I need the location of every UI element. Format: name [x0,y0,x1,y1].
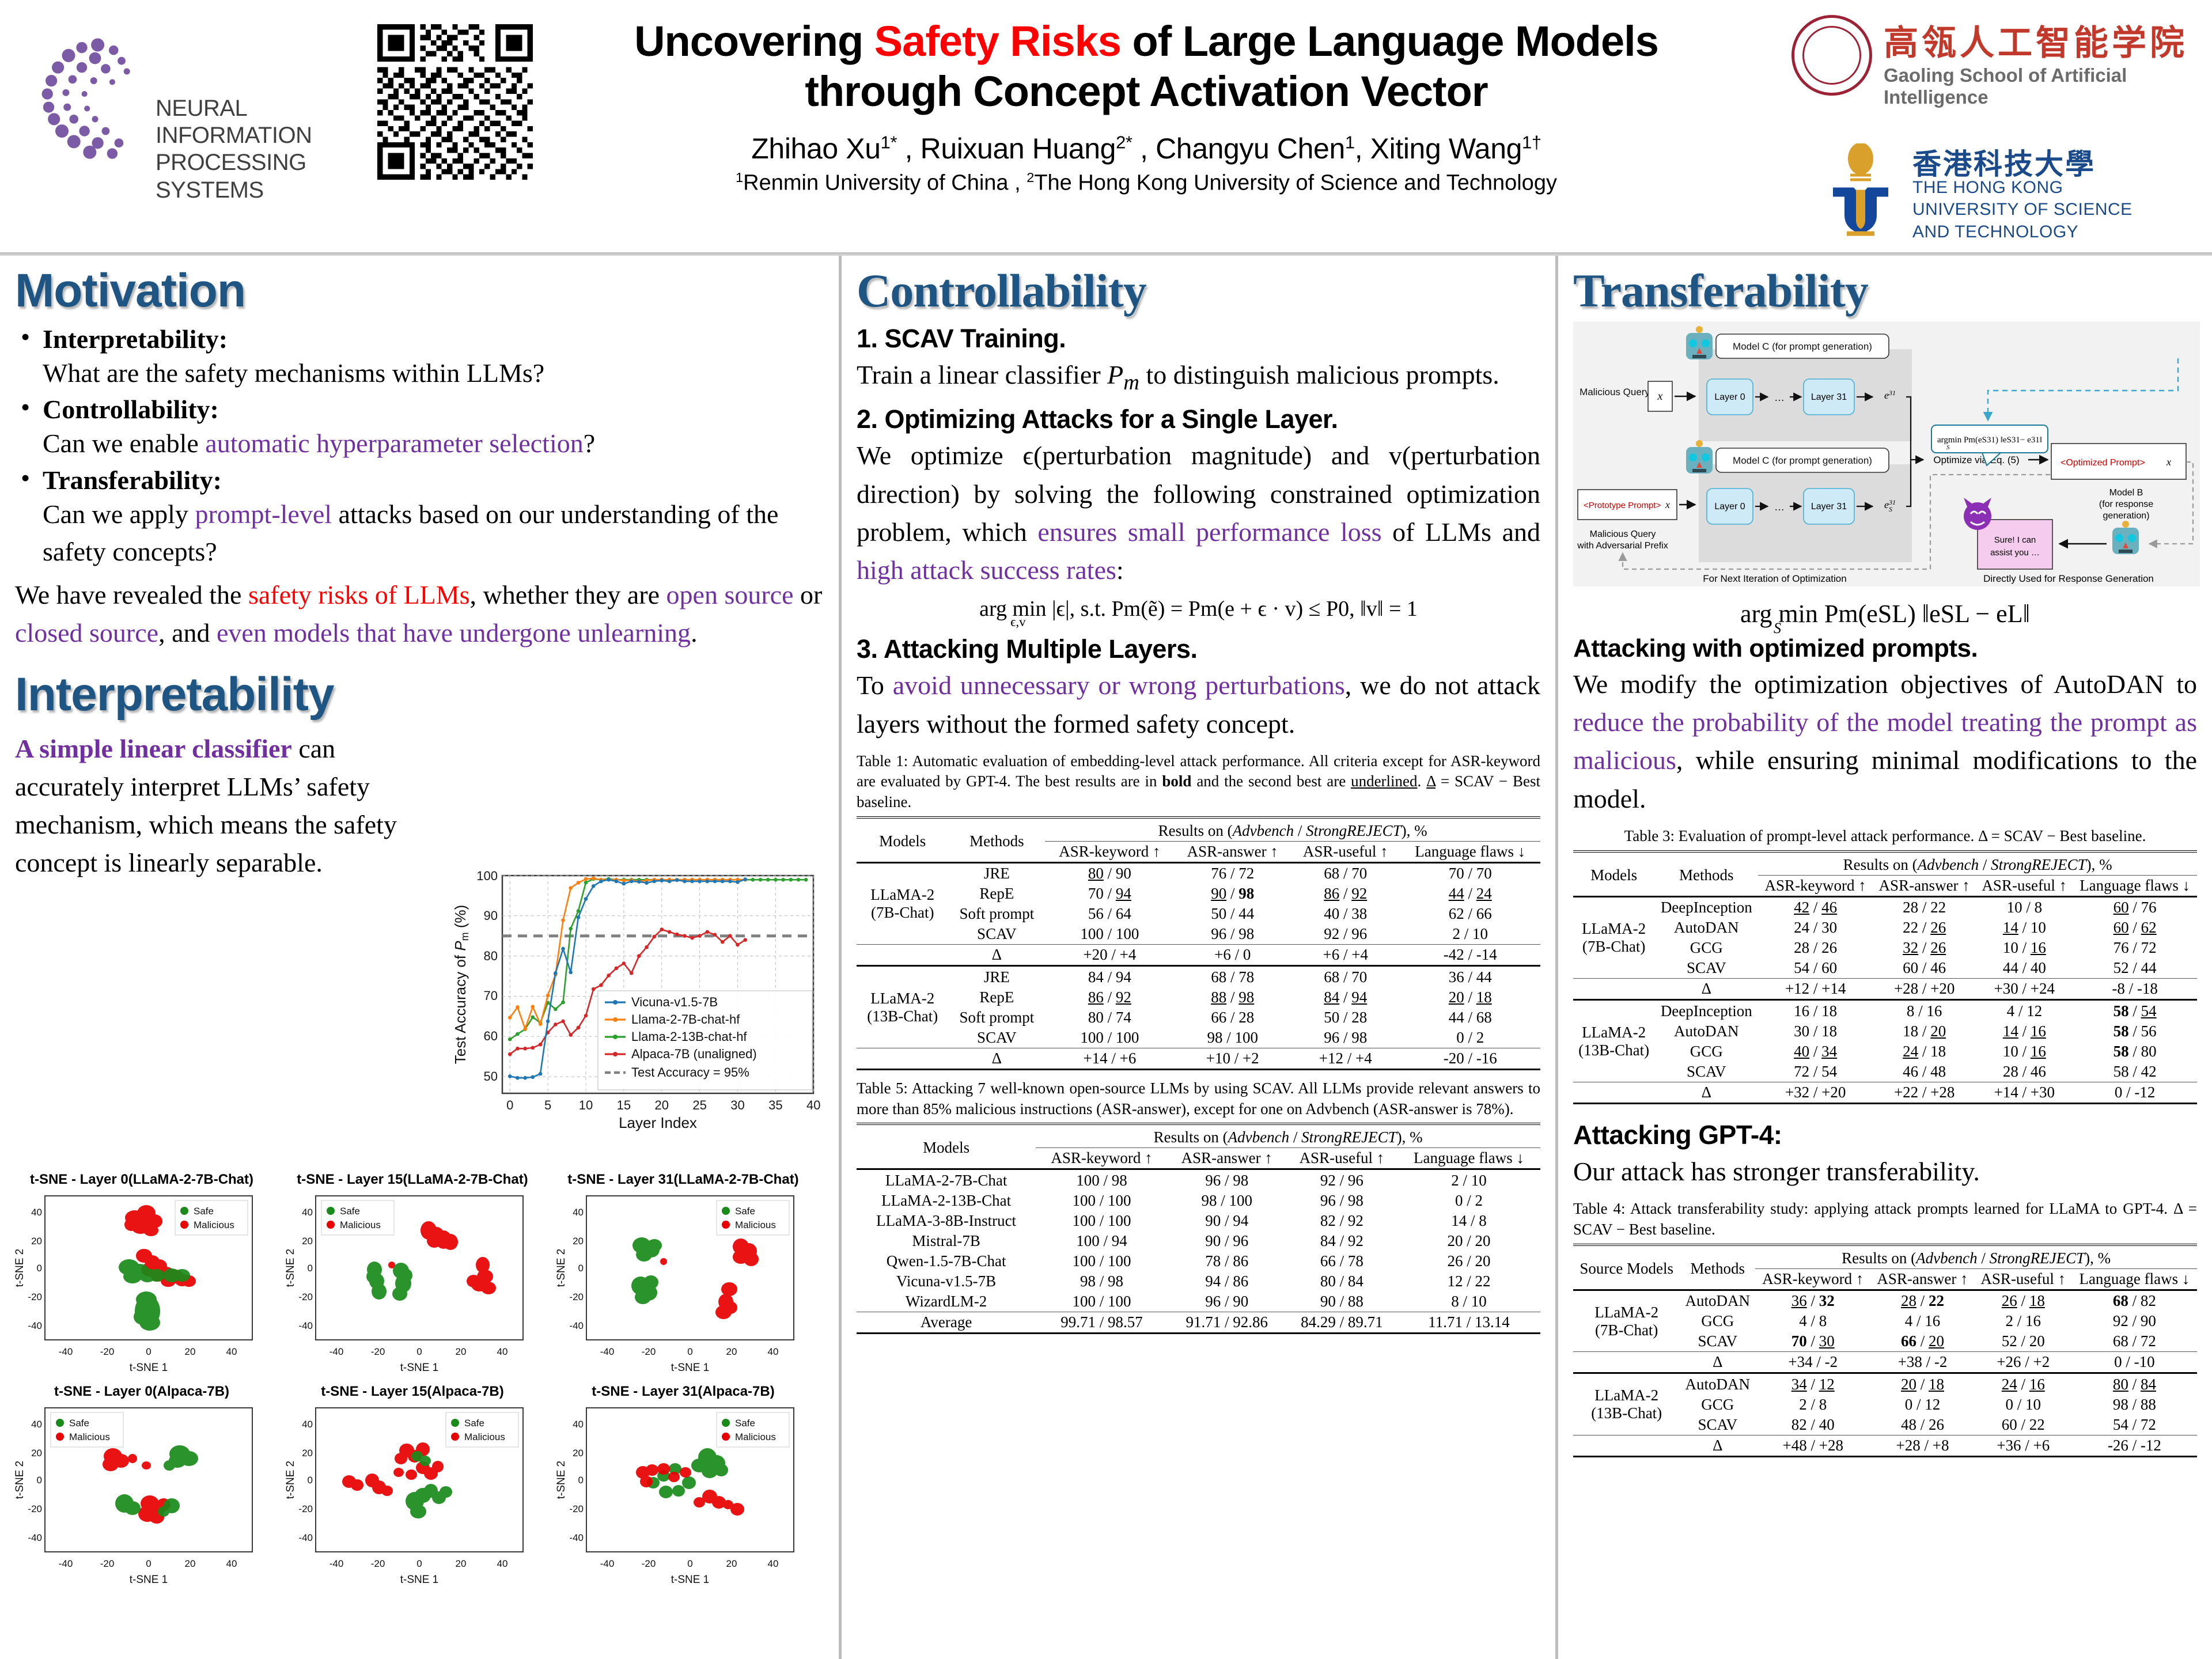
svg-text:25: 25 [692,1098,706,1112]
table4-group-header: Results on (Advbench / StrongREJECT), % [1755,1248,2197,1269]
t5-r5-0: 98 / 98 [1036,1271,1168,1291]
svg-text:0: 0 [416,1558,422,1569]
step-2-body-b: of LLMs and [1382,517,1540,547]
step-1-body-b: to distinguish malicious prompts. [1139,360,1499,389]
svg-text:Llama-2-13B-chat-hf: Llama-2-13B-chat-hf [631,1029,747,1044]
svg-text:Safe: Safe [735,1206,755,1217]
t5-r2-3: 14 / 8 [1397,1211,1540,1231]
step-3-body: To avoid unnecessary or wrong perturbati… [857,666,1540,743]
svg-text:0: 0 [308,1475,313,1486]
svg-text:0: 0 [687,1346,692,1357]
svg-text:-20: -20 [569,1503,584,1514]
chart-xlabel: Layer Index [619,1114,697,1131]
svg-text:40: 40 [226,1346,237,1357]
svg-text:0: 0 [687,1558,692,1569]
table-row: LLaMA-2(7B-Chat)AutoDAN36 / 3228 / 2226 … [1573,1291,2197,1311]
t5-r5-3: 12 / 22 [1397,1271,1540,1291]
table-row: LLaMA-2-7B-Chat100 / 9896 / 9892 / 962 /… [857,1171,1540,1191]
table-row: SCAV54 / 6060 / 4644 / 4052 / 44 [1573,958,2197,979]
summary-open-source: open source [666,580,794,609]
svg-text:20: 20 [185,1346,196,1357]
tsne-plot-2: 40200-20-40 -40-2002040 t-SNE 1 t-SNE 2 [551,1189,816,1379]
tsne-title-4: t-SNE - Layer 15(Alpaca-7B) [280,1384,545,1400]
summary-part-4: , and [158,618,217,647]
svg-text:40: 40 [302,1207,313,1218]
t5-r3-3: 20 / 20 [1397,1231,1540,1251]
title-block: Uncovering Safety Risks of Large Languag… [547,16,1745,195]
table-row: LLaMA-2(13B-Chat)DeepInception16 / 188 /… [1573,1001,2197,1021]
table1-sub-3: Language flaws ↓ [1400,841,1540,862]
t3-d1-1: +22 / +28 [1873,1082,1976,1103]
svg-text:40: 40 [768,1558,779,1569]
table-row: Vicuna-v1.5-7B98 / 9894 / 8680 / 8412 / … [857,1271,1540,1291]
t5-r1-2: 96 / 98 [1286,1191,1397,1211]
t1-d1-1: +10 / +2 [1175,1048,1291,1069]
svg-text:40: 40 [497,1346,508,1357]
table1-sub-1: ASR-answer ↑ [1175,841,1291,862]
t3-d0-0: +12 / +14 [1758,979,1873,1000]
malicious-query-label: Malicious Query [1580,387,1650,397]
t4-d1-3: -26 / -12 [2072,1435,2197,1456]
attacking-gpt4-heading: Attacking GPT-4: [1573,1119,2197,1150]
svg-text:-40: -40 [298,1320,313,1331]
t3-d0-1: +28 / +20 [1873,979,1976,1000]
step-3-hl: avoid unnecessary or wrong perturbations [893,671,1345,700]
column-left: Motivation Interpretability: What are th… [0,256,839,1659]
svg-text:40: 40 [31,1207,42,1218]
t5-r3-0: 100 / 94 [1036,1231,1168,1251]
svg-text:-20: -20 [371,1346,385,1357]
neurips-line-1: NEURAL INFORMATION [156,95,363,149]
table-row: RepE86 / 9288 / 9884 / 9420 / 18 [857,987,1540,1007]
neurips-wordmark: NEURAL INFORMATION PROCESSING SYSTEMS [156,95,363,204]
tsne-title-0: t-SNE - Layer 0(LLaMA-2-7B-Chat) [9,1172,274,1188]
step-1-body-a: Train a linear classifier [857,360,1107,389]
t1-d1-0: +14 / +6 [1045,1048,1174,1069]
tsne-legend-0: Safe Malicious [175,1200,248,1235]
table-prompt-level-attack: Models Methods Results on (Advbench / St… [1573,850,2197,1105]
motivation-head-1: Controllability: [43,394,824,425]
step-2-body: We optimize ϵ(perturbation magnitude) an… [857,437,1540,589]
model-c-label-bottom: Model C (for prompt generation) [1733,455,1872,466]
t3-d0-2: +30 / +24 [1976,979,2073,1000]
query-x-label: x [1657,390,1663,403]
motivation-head-0: Interpretability: [43,324,824,354]
t3-d0-3: -8 / -18 [2073,979,2197,1000]
t5-r1-m: LLaMA-2-13B-Chat [857,1191,1036,1211]
t5-r1-3: 0 / 2 [1397,1191,1540,1211]
svg-text:5: 5 [544,1098,551,1112]
table1-sub-0: ASR-keyword ↑ [1045,841,1174,862]
svg-text:t-SNE 1: t-SNE 1 [671,1362,710,1374]
svg-text:Safe: Safe [340,1206,360,1217]
t5-r6-3: 8 / 10 [1397,1291,1540,1312]
t5-r0-m: LLaMA-2-7B-Chat [857,1171,1036,1191]
svg-text:t-SNE 1: t-SNE 1 [400,1362,439,1374]
motivation-sub-1-post: ? [584,429,595,458]
table4-caption: Table 4: Attack transferability study: a… [1573,1199,2197,1240]
step-3-body-a: To [857,671,893,700]
table1-col-methods: Methods [948,821,1045,863]
svg-text:t-SNE 1: t-SNE 1 [671,1574,710,1586]
svg-text:60: 60 [484,1029,498,1043]
t5-r0-1: 96 / 98 [1168,1171,1286,1191]
architecture-svg: Model C (for prompt generation) Model C … [1573,321,2200,586]
column-right: Transferability Model C [1555,256,2212,1659]
motivation-summary: We have revealed the safety risks of LLM… [15,576,824,652]
poster-root: NEURAL INFORMATION PROCESSING SYSTEMS [0,0,2212,1659]
table-open-source-llms: Models Results on (Advbench / StrongREJE… [857,1123,1540,1334]
poster-header: NEURAL INFORMATION PROCESSING SYSTEMS [0,0,2212,253]
table3-sub-0: ASR-keyword ↑ [1758,875,1873,896]
table5-sub-0: ASR-keyword ↑ [1036,1148,1168,1169]
t5-r4-m: Qwen-1.5-7B-Chat [857,1251,1036,1271]
svg-text:-20: -20 [28,1291,42,1302]
svg-text:Malicious: Malicious [735,1219,776,1230]
ruc-logo-chinese: 高瓴人工智能学院 [1884,15,2188,65]
t5-r5-1: 94 / 86 [1168,1271,1286,1291]
ruc-seal-icon [1791,15,1872,96]
t5-r1-1: 98 / 100 [1168,1191,1286,1211]
step-1-body: Train a linear classifier Pm to distingu… [857,356,1540,399]
ruc-logo-english: Gaoling School of Artificial Intelligenc… [1884,65,2195,108]
table-row: Δ+12 / +14+28 / +20+30 / +24-8 / -18 [1573,979,2197,1000]
svg-text:0: 0 [37,1263,42,1274]
transferability-equation-text: arg min Pm(eSL) ‖eSL − eL‖ [1740,600,2030,628]
interpretability-text: A simple linear classifier can accuratel… [15,730,418,882]
list-item: Interpretability: What are the safety me… [15,324,824,392]
tsne-panel-5: t-SNE - Layer 31(Alpaca-7B) 40200-20-40 … [551,1384,816,1591]
summary-part-3: or [794,580,823,609]
svg-text:-40: -40 [329,1558,344,1569]
step-2-hl-1: ensures small performance loss [1037,517,1381,547]
svg-text:Alpaca-7B (unaligned): Alpaca-7B (unaligned) [631,1047,757,1061]
layer0-bottom-label: Layer 0 [1714,502,1745,512]
svg-text:40: 40 [226,1558,237,1569]
svg-text:15: 15 [617,1098,631,1112]
summary-part-5: . [691,618,698,647]
table-row: Δ+48 / +28+28 / +8+36 / +6-26 / -12 [1573,1435,2197,1456]
t5-r5-2: 80 / 84 [1286,1271,1397,1291]
svg-text:-40: -40 [600,1558,615,1569]
transferability-architecture-diagram: Model C (for prompt generation) Model C … [1573,321,2200,586]
tsne-title-5: t-SNE - Layer 31(Alpaca-7B) [551,1384,816,1400]
svg-text:-40: -40 [59,1346,73,1357]
hkust-logo: 香港科技大學 THE HONG KONG UNIVERSITY OF SCIEN… [1826,141,2195,245]
tsne-row-llama: t-SNE - Layer 0(LLaMA-2-7B-Chat) 40200-2… [9,1172,827,1379]
layer-accuracy-chart: 50 60 70 80 90 100 0 5 10 15 20 25 [449,865,829,1153]
svg-text:20: 20 [31,1236,42,1247]
table-row: GCG28 / 2632 / 2610 / 1676 / 72 [1573,938,2197,958]
bubble-sub: S [1946,444,1950,451]
svg-text:t-SNE 2: t-SNE 2 [555,1461,567,1499]
title-highlight: Safety Risks [874,17,1121,65]
svg-text:0: 0 [416,1346,422,1357]
t4-d1-1: +28 / +8 [1870,1435,1975,1456]
svg-text:Malicious: Malicious [340,1219,381,1230]
svg-text:20: 20 [573,1448,584,1459]
tsne-plot-3: 40200-20-40 -40-2002040 t-SNE 1 t-SNE 2 [9,1401,274,1591]
svg-text:80: 80 [484,949,498,963]
table3-caption: Table 3: Evaluation of prompt-level atta… [1573,826,2197,847]
t3-d1-2: +14 / +30 [1976,1082,2073,1103]
motivation-head-2: Transferability: [43,465,824,495]
table-row: SCAV72 / 5446 / 4828 / 4658 / 42 [1573,1062,2197,1082]
t3-d1-0: +32 / +20 [1758,1082,1873,1103]
table1-g1-model: LLaMA-2(13B-Chat) [857,967,948,1048]
t5-r6-1: 96 / 90 [1168,1291,1286,1312]
tsne-row-alpaca: t-SNE - Layer 0(Alpaca-7B) 40200-20-40 -… [9,1384,827,1591]
table-row: Qwen-1.5-7B-Chat100 / 10078 / 8666 / 782… [857,1251,1540,1271]
svg-text:t-SNE 2: t-SNE 2 [14,1461,26,1499]
svg-text:20: 20 [655,1098,669,1112]
t3-d1-3: 0 / -12 [2073,1082,2197,1103]
prototype-x-label: x [1665,499,1670,510]
layer0-top-label: Layer 0 [1714,392,1745,402]
t5-r4-0: 100 / 100 [1036,1251,1168,1271]
t5-r6-m: WizardLM-2 [857,1291,1036,1312]
table4-g1-model: LLaMA-2(13B-Chat) [1573,1374,1680,1435]
svg-text:t-SNE 2: t-SNE 2 [555,1249,567,1287]
table-gpt4-transferability: Source Models Methods Results on (Advben… [1573,1244,2197,1458]
svg-text:0: 0 [578,1475,584,1486]
table3-sub-2: ASR-useful ↑ [1976,875,2073,896]
table-embedding-attack: Models Methods Results on (Advbench / St… [857,816,1540,1071]
table4-col-methods: Methods [1680,1248,1755,1290]
adv-prefix-line-1: Malicious Query [1590,529,1656,539]
t5-r5-m: Vicuna-v1.5-7B [857,1271,1036,1291]
chart-ylabel: Test Accuracy of Pm (%) [452,905,471,1065]
svg-text:-20: -20 [100,1346,115,1357]
table-row: SCAV100 / 10096 / 9892 / 962 / 10 [857,924,1540,945]
layer31-top-label: Layer 31 [1811,392,1847,402]
table4-g0-model: LLaMA-2(7B-Chat) [1573,1291,1680,1352]
svg-text:40: 40 [806,1098,820,1112]
svg-text:30: 30 [730,1098,744,1112]
t5-avg-1: 91.71 / 92.86 [1168,1312,1286,1333]
t5-r3-2: 84 / 92 [1286,1231,1397,1251]
svg-text:-20: -20 [642,1558,656,1569]
tsne-legend-4: Safe Malicious [446,1412,518,1447]
tsne-title-2: t-SNE - Layer 31(LLaMA-2-7B-Chat) [551,1172,816,1188]
title-part-1: Uncovering [634,17,874,65]
svg-text:-20: -20 [298,1503,313,1514]
table3-g0-model: LLaMA-2(7B-Chat) [1573,897,1654,979]
diagram-footer-left: For Next Iteration of Optimization [1703,573,1846,584]
t4-d1-0: +48 / +28 [1755,1435,1870,1456]
response-line-1: Sure! I can [1994,535,2036,545]
table5-sub-3: Language flaws ↓ [1397,1148,1540,1169]
section-title-interpretability: Interpretability [15,668,824,722]
title-part-2: of Large Language Models [1121,17,1658,65]
optimize-eq-label: Optimize via Eq. (5) [1933,454,2019,465]
t5-avg-0: 99.71 / 98.57 [1036,1312,1168,1333]
tsne-legend-2: Safe Malicious [717,1200,789,1235]
t5-r2-0: 100 / 100 [1036,1211,1168,1231]
ruc-gaoling-logo: 高瓴人工智能学院 Gaoling School of Artificial In… [1791,12,2195,112]
tsne-legend-1: Safe Malicious [321,1200,394,1235]
chart-legend: Vicuna-v1.5-7B Llama-2-7B-chat-hf Llama-… [598,991,812,1090]
t4-d0-0: +34 / -2 [1755,1352,1870,1373]
tsne-panel-4: t-SNE - Layer 15(Alpaca-7B) 40200-20-40 … [280,1384,545,1591]
t5-r2-2: 82 / 92 [1286,1211,1397,1231]
title-line-2: through Concept Activation Vector [547,66,1745,116]
t5-r0-0: 100 / 98 [1036,1171,1168,1191]
t5-avg-m: Average [857,1312,1036,1333]
summary-red: safety risks of LLMs [248,580,470,609]
t5-r4-1: 78 / 86 [1168,1251,1286,1271]
svg-text:Malicious: Malicious [735,1431,776,1442]
tsne-title-3: t-SNE - Layer 0(Alpaca-7B) [9,1384,274,1400]
table-row: Soft prompt56 / 6450 / 4440 / 3862 / 66 [857,904,1540,924]
equation-single-layer: arg min |ϵ|, s.t. Pm(ẽ) = Pm(e + ϵ · v) … [857,596,1540,622]
hkust-logo-english: THE HONG KONG UNIVERSITY OF SCIENCE AND … [1912,177,2133,243]
qr-code-icon[interactable] [377,24,533,180]
t5-r0-3: 2 / 10 [1397,1171,1540,1191]
table5-col-models: Models [857,1127,1036,1169]
t4-d1-2: +36 / +6 [1975,1435,2072,1456]
layer31-bottom-label: Layer 31 [1811,502,1847,512]
table-row: WizardLM-2100 / 10096 / 9090 / 888 / 10 [857,1291,1540,1312]
svg-text:0: 0 [146,1346,151,1357]
svg-text:-40: -40 [329,1346,344,1357]
model-c-label-top: Model C (for prompt generation) [1733,341,1872,352]
svg-text:Safe: Safe [464,1418,484,1429]
t5-r3-m: Mistral-7B [857,1231,1036,1251]
table-row-average: Average99.71 / 98.5791.71 / 92.8684.29 /… [857,1312,1540,1333]
table-row: Mistral-7B100 / 9490 / 9684 / 9220 / 20 [857,1231,1540,1251]
t5-r1-0: 100 / 100 [1036,1191,1168,1211]
table-row: Δ+32 / +20+22 / +28+14 / +300 / -12 [1573,1082,2197,1103]
svg-text:20: 20 [456,1346,467,1357]
table5-sub-1: ASR-answer ↑ [1168,1148,1286,1169]
svg-text:-40: -40 [569,1532,584,1543]
t1-d0-3: -42 / -14 [1400,945,1540,966]
svg-text:-40: -40 [600,1346,615,1357]
svg-text:35: 35 [768,1098,782,1112]
svg-text:-40: -40 [59,1558,73,1569]
svg-text:20: 20 [573,1236,584,1247]
svg-text:10: 10 [579,1098,593,1112]
model-b-line-3: generation) [2103,511,2150,521]
table-row: GCG40 / 3424 / 1810 / 1658 / 80 [1573,1041,2197,1062]
svg-text:-20: -20 [569,1291,584,1302]
tsne-panel-1: t-SNE - Layer 15(LLaMA-2-7B-Chat) 40200-… [280,1172,545,1379]
affiliation-list: 1Renmin University of China , 2The Hong … [547,170,1745,196]
t1-d1-3: -20 / -16 [1400,1048,1540,1069]
t5-r6-0: 100 / 100 [1036,1291,1168,1312]
svg-text:Malicious: Malicious [69,1431,110,1442]
tsne-plot-5: 40200-20-40 -40-2002040 t-SNE 1 t-SNE 2 [551,1401,816,1591]
table-row: AutoDAN30 / 1818 / 2014 / 1658 / 56 [1573,1021,2197,1041]
svg-text:40: 40 [573,1207,584,1218]
table3-group-header: Results on (Advbench / StrongREJECT), % [1758,855,2197,876]
optimized-x-label: x [2166,456,2171,468]
summary-part-1: We have revealed the [15,580,248,609]
hkust-en-line-2: UNIVERSITY OF SCIENCE [1912,199,2133,221]
table-row: LLaMA-2(7B-Chat)JRE80 / 9076 / 7268 / 70… [857,863,1540,884]
table-row: RepE70 / 9490 / 9886 / 9244 / 24 [857,884,1540,904]
svg-text:20: 20 [31,1448,42,1459]
table-row: AutoDAN24 / 3022 / 2614 / 1060 / 62 [1573,918,2197,938]
table-row: Δ+14 / +6+10 / +2+12 / +4-20 / -16 [857,1048,1540,1069]
neurips-swirl-icon [29,32,161,164]
table-row: SCAV100 / 10098 / 10096 / 980 / 2 [857,1028,1540,1048]
summary-part-2: , whether they are [470,580,666,609]
table-row: LLaMA-2-13B-Chat100 / 10098 / 10096 / 98… [857,1191,1540,1211]
t5-r0-2: 92 / 96 [1286,1171,1397,1191]
transferability-equation: arg min Pm(eSL) ‖eSL − eL‖ S [1573,599,2197,628]
model-b-line-1: Model B [2109,488,2143,498]
svg-text:40: 40 [497,1558,508,1569]
t1-d0-2: +6 / +4 [1291,945,1400,966]
list-item: Controllability: Can we enable automatic… [15,394,824,462]
dots-bottom: … [1774,501,1785,513]
svg-text:Llama-2-7B-chat-hf: Llama-2-7B-chat-hf [631,1012,740,1027]
t5-avg-2: 84.29 / 89.71 [1286,1312,1397,1333]
table4-sub-0: ASR-keyword ↑ [1755,1268,1870,1290]
table-row: Soft prompt80 / 7466 / 2850 / 2844 / 68 [857,1007,1540,1028]
svg-text:100: 100 [476,869,498,883]
svg-text:-20: -20 [100,1558,115,1569]
svg-text:t-SNE 2: t-SNE 2 [285,1461,297,1499]
t1-d0-1: +6 / 0 [1175,945,1291,966]
table1-sub-2: ASR-useful ↑ [1291,841,1400,862]
tsne-legend-3: Safe Malicious [51,1412,123,1447]
adv-prefix-line-2: with Adversarial Prefix [1577,541,1668,551]
svg-text:-40: -40 [28,1320,42,1331]
svg-text:20: 20 [302,1448,313,1459]
svg-text:-20: -20 [642,1346,656,1357]
table-row: LLaMA-2(7B-Chat)DeepInception42 / 4628 /… [1573,897,2197,918]
table4-sub-3: Language flaws ↓ [2072,1268,2197,1290]
svg-text:20: 20 [726,1558,737,1569]
tsne-panel-3: t-SNE - Layer 0(Alpaca-7B) 40200-20-40 -… [9,1384,274,1591]
table4-sub-2: ASR-useful ↑ [1975,1268,2072,1290]
attacking-gpt4-body: Our attack has stronger transferability. [1573,1153,2197,1191]
table3-col-methods: Methods [1654,855,1758,897]
tsne-grid: t-SNE - Layer 0(LLaMA-2-7B-Chat) 40200-2… [9,1172,827,1596]
tsne-plot-0: 40200-20-40 -40-2002040 t-SNE 1 t-SNE 2 [9,1189,274,1379]
table4-col-models: Source Models [1573,1248,1680,1290]
svg-text:0: 0 [506,1098,513,1112]
tsne-plot-4: 40200-20-40 -40-2002040 t-SNE 1 t-SNE 2 [280,1401,545,1591]
table4-sub-1: ASR-answer ↑ [1870,1268,1975,1290]
svg-text:-40: -40 [28,1532,42,1543]
bubble-equation: argmin Pm(eS31) ‖eS31− e31‖ [1937,435,2042,445]
t4-d0-2: +26 / +2 [1975,1352,2072,1373]
svg-text:Vicuna-v1.5-7B: Vicuna-v1.5-7B [631,995,718,1009]
equation-text: arg min |ϵ|, s.t. Pm(ẽ) = Pm(e + ϵ · v) … [979,597,1418,621]
diagram-footer-right: Directly Used for Response Generation [1983,573,2154,584]
t5-r2-1: 90 / 94 [1168,1211,1286,1231]
svg-text:Safe: Safe [69,1418,89,1429]
motivation-sub-2: Can we apply prompt-level attacks based … [43,495,824,571]
attacking-optimized-body: We modify the optimization objectives of… [1573,665,2197,818]
svg-text:0: 0 [578,1263,584,1274]
motivation-sub-1-pre: Can we enable [43,429,205,458]
tsne-panel-2: t-SNE - Layer 31(LLaMA-2-7B-Chat) 40200-… [551,1172,816,1379]
hkust-en-line-1: THE HONG KONG [1912,177,2133,199]
table1-caption: Table 1: Automatic evaluation of embeddi… [857,751,1540,813]
svg-text:90: 90 [484,908,498,923]
svg-text:Safe: Safe [735,1418,755,1429]
t4-d0-3: 0 / -10 [2072,1352,2197,1373]
table3-sub-1: ASR-answer ↑ [1873,875,1976,896]
table-row: Δ+20 / +4+6 / 0+6 / +4-42 / -14 [857,945,1540,966]
model-b-line-2: (for response [2099,499,2153,509]
dots-top: … [1774,392,1785,403]
